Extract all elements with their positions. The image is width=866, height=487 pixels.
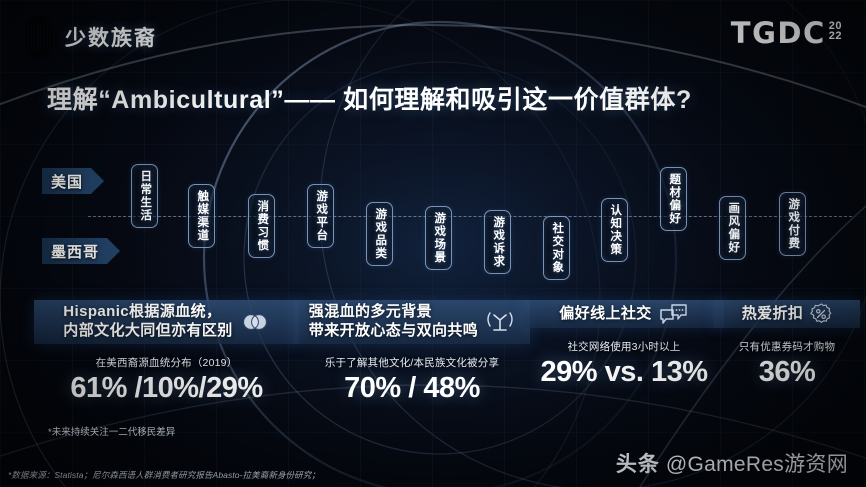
venn-circles-icon <box>240 313 270 331</box>
tgdc-logo: TGDC 20 22 <box>731 16 842 50</box>
timeline-node: 消费习惯 <box>248 194 275 258</box>
timeline-node: 触媒渠道 <box>188 184 215 248</box>
panel-subtitle: 社交网络使用3小时以上 <box>524 339 724 354</box>
timeline-node: 游戏诉求 <box>484 210 511 274</box>
region-arrow-icon <box>91 168 104 194</box>
timeline-node-label: 游戏平台 <box>315 190 327 242</box>
capsule-rings-logo-icon <box>26 16 52 58</box>
stat-panels: Hispanic根据源血统， 内部文化大同但亦有区别 在美西裔源血统分布（201… <box>0 300 866 440</box>
timeline-node: 游戏平台 <box>307 184 334 248</box>
timeline-node: 游戏场景 <box>425 206 452 270</box>
panel-subtitle: 只有优惠券码才购物 <box>714 339 860 354</box>
region-label: 美国 <box>51 171 83 192</box>
timeline-node-label: 画风偏好 <box>727 202 739 254</box>
brand-label: 少数族裔 <box>65 22 157 52</box>
timeline-node-label: 题材偏好 <box>668 173 680 225</box>
timeline-node-label: 游戏品类 <box>374 208 386 260</box>
source-footnote: *数据来源：Statista；尼尔森西语人群消费者研究报告Abasto-拉美裔新… <box>8 469 320 481</box>
panel-headline-2: 带来开放心态与双向共鸣 <box>309 322 478 341</box>
brand-header: 少数族裔 <box>26 16 157 58</box>
stat-panel-discount: 热爱折扣 只有优惠券码才购物 36% <box>714 300 860 389</box>
timeline-node-label: 游戏诉求 <box>492 216 504 268</box>
chat-bubbles-icon <box>659 303 689 325</box>
panel-footnote: *未来持续关注一二代移民差异 <box>48 424 175 438</box>
stat-panel-mixed-heritage: 强混血的多元背景 带来开放心态与双向共鸣 乐于了解其他文化/本民族文化被分享 7… <box>294 300 530 405</box>
watermark: 头条 @GameRes游资网 <box>616 448 848 478</box>
watermark-handle: @GameRes游资网 <box>666 448 848 478</box>
panel-value: 70% / 48% <box>294 372 530 405</box>
panel-headline-1: 热爱折扣 <box>742 305 804 324</box>
tgdc-year-bottom: 22 <box>829 31 842 41</box>
tgdc-wordmark: TGDC <box>731 16 826 50</box>
timeline-node-label: 游戏场景 <box>433 212 445 264</box>
timeline-node: 社交对象 <box>543 216 570 280</box>
timeline-node-label: 认知决策 <box>609 204 621 256</box>
watermark-prefix: 头条 <box>616 448 660 478</box>
stat-panel-ancestry: Hispanic根据源血统， 内部文化大同但亦有区别 在美西裔源血统分布（201… <box>34 300 299 405</box>
panel-header: 热爱折扣 <box>714 300 860 328</box>
panel-header: Hispanic根据源血统， 内部文化大同但亦有区别 <box>34 300 299 344</box>
panel-headline-1: 偏好线上社交 <box>559 305 651 324</box>
slide-canvas: 少数族裔 TGDC 20 22 理解“Ambicultural”—— 如何理解和… <box>0 0 866 487</box>
timeline-node-label: 游戏付费 <box>787 198 799 250</box>
timeline-node: 日常生活 <box>131 164 158 228</box>
panel-subtitle: 乐于了解其他文化/本民族文化被分享 <box>294 355 530 370</box>
timeline-node: 游戏付费 <box>779 192 806 256</box>
timeline-node: 题材偏好 <box>660 167 687 231</box>
discount-badge-icon <box>810 303 832 325</box>
timeline-node-label: 触媒渠道 <box>196 190 208 242</box>
panel-header: 偏好线上社交 <box>524 300 724 328</box>
page-title: 理解“Ambicultural”—— 如何理解和吸引这一价值群体? <box>47 80 692 116</box>
region-label: 墨西哥 <box>51 241 99 262</box>
region-arrow-icon <box>107 238 120 264</box>
timeline-node-label: 社交对象 <box>551 222 563 274</box>
broadcast-antenna-icon <box>485 311 515 333</box>
panel-value: 36% <box>714 356 860 389</box>
panel-headline-1: 强混血的多元背景 <box>309 303 432 322</box>
panel-header: 强混血的多元背景 带来开放心态与双向共鸣 <box>294 300 530 344</box>
region-tag-us: 美国 <box>42 168 104 194</box>
timeline-node: 游戏品类 <box>366 202 393 266</box>
tgdc-year: 20 22 <box>829 21 842 42</box>
timeline-node: 画风偏好 <box>719 196 746 260</box>
timeline-node-label: 消费习惯 <box>256 200 268 252</box>
panel-value: 29% vs. 13% <box>524 356 724 389</box>
panel-headline-1: Hispanic根据源血统， <box>63 303 221 322</box>
region-tag-mx: 墨西哥 <box>42 238 120 264</box>
panel-headline-2: 内部文化大同但亦有区别 <box>63 322 232 341</box>
stat-panel-online-social: 偏好线上社交 社交网络使用3小时以上 29% vs. 13% <box>524 300 724 389</box>
timeline-node: 认知决策 <box>601 198 628 262</box>
panel-value: 61% /10%/29% <box>34 372 299 405</box>
journey-timeline: 美国 墨西哥 日常生活触媒渠道消费习惯游戏平台游戏品类游戏场景游戏诉求社交对象认… <box>0 150 866 290</box>
timeline-node-label: 日常生活 <box>139 170 151 222</box>
panel-subtitle: 在美西裔源血统分布（2019） <box>34 355 299 370</box>
